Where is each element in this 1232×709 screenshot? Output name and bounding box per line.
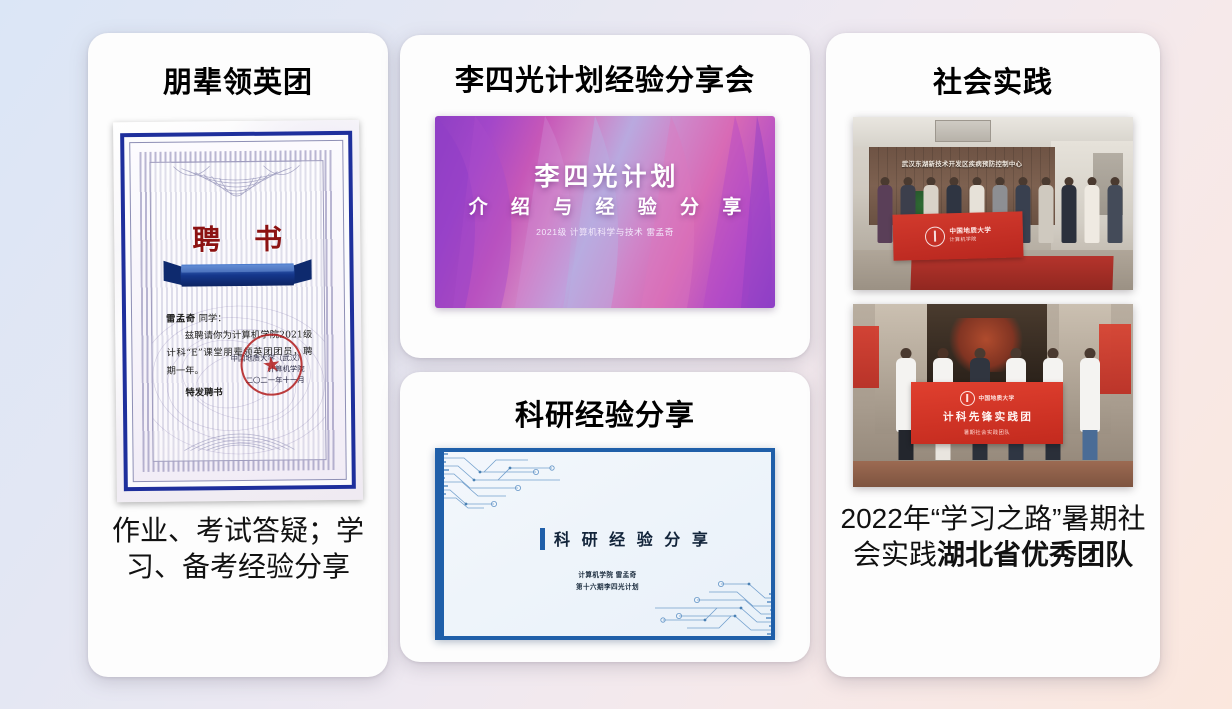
card-social-practice: 社会实践 武汉东湖新技术开发区疾病预防控制中心 <box>826 33 1160 677</box>
certificate-image: 聘 书 <box>113 120 363 503</box>
certificate-bottom-ornament <box>164 409 314 455</box>
photo-team-banner-sub: 暑期社会实践团队 <box>964 429 1010 436</box>
certificate-salutation: 雷孟奇 同学： <box>166 309 312 328</box>
card-social-caption-normal-1: 2022年“学习之路” <box>841 503 1062 534</box>
circuit-decoration-top-left <box>444 452 590 522</box>
seal-star-icon: ★ <box>261 353 282 376</box>
card-research-sharing: 科研经验分享 <box>400 372 810 662</box>
research-slide-sub2: 第十六期李四光计划 <box>444 582 771 594</box>
photo-cdc-group: 武汉东湖新技术开发区疾病预防控制中心 中国地质大学 <box>853 117 1133 290</box>
card-social-caption: 2022年“学习之路”暑期社会实践湖北省优秀团队 <box>840 501 1146 573</box>
photo-cdc-red-banner: 中国地质大学 计算机学院 <box>892 211 1023 260</box>
lisiguang-slide-line3: 2021级 计算机科学与技术 雷孟奇 <box>435 226 775 238</box>
photo-team-banner-main: 计科先锋实践团 <box>941 409 1034 424</box>
lisiguang-slide-image: 李四光计划 介 绍 与 经 验 分 享 2021级 计算机科学与技术 雷孟奇 <box>435 116 775 308</box>
photo-team-group: 中国地质大学 计科先锋实践团 暑期社会实践团队 <box>853 304 1133 487</box>
photo-team-red-banner: 中国地质大学 计科先锋实践团 暑期社会实践团队 <box>911 382 1063 444</box>
lisiguang-slide-line1: 李四光计划 <box>435 157 775 193</box>
card-social-title: 社会实践 <box>933 59 1053 101</box>
card-peer-leaders: 朋辈领英团 <box>88 33 388 677</box>
certificate-salutation-suffix: 同学： <box>196 313 227 324</box>
card-lisiguang-title: 李四光计划经验分享会 <box>455 57 755 99</box>
research-slide-sub1: 计算机学院 雷孟奇 <box>444 570 771 582</box>
certificate-mid-border: 聘 书 <box>129 140 347 482</box>
slide-board: 朋辈领英团 <box>0 0 1232 709</box>
research-slide-subtitle: 计算机学院 雷孟奇 第十六期李四光计划 <box>444 570 771 593</box>
photo-team-banner-university: 中国地质大学 <box>979 394 1015 402</box>
university-logo-icon <box>960 391 975 406</box>
card-lisiguang-plan: 李四光计划经验分享会 李四光计划 介 绍 与 经 验 分 享 2021级 计算机… <box>400 35 810 358</box>
research-slide-inner: 科 研 经 验 分 享 计算机学院 雷孟奇 第十六期李四光计划 <box>444 452 771 636</box>
certificate-ribbon <box>157 253 317 295</box>
photo-team-floor <box>853 461 1133 487</box>
research-slide-image: 科 研 经 验 分 享 计算机学院 雷孟奇 第十六期李四光计划 <box>435 448 775 640</box>
card-social-caption-bold: 湖北省优秀团队 <box>937 539 1133 570</box>
photo-cdc-banner-text: 中国地质大学 计算机学院 <box>949 226 991 244</box>
certificate-recipient-name: 雷孟奇 <box>166 313 196 324</box>
research-title-accent-bar <box>540 528 545 550</box>
certificate-inner-panel: 聘 书 <box>149 160 326 462</box>
certificate-fan-ornament <box>161 160 312 219</box>
photo-cdc-wall-text: 武汉东湖新技术开发区疾病预防控制中心 <box>871 159 1053 168</box>
card-peer-title: 朋辈领英团 <box>163 59 313 101</box>
card-research-title: 科研经验分享 <box>515 392 695 434</box>
photo-cdc-vent <box>935 120 991 142</box>
photo-cdc-banner-college: 计算机学院 <box>950 236 992 245</box>
photo-team-banner-header: 中国地质大学 <box>960 391 1015 406</box>
photo-cdc-red-carpet <box>910 256 1113 290</box>
photo-team-left-poster <box>853 326 879 388</box>
certificate-outer-border: 聘 书 <box>120 131 356 491</box>
lisiguang-slide-line2: 介 绍 与 经 验 分 享 <box>435 192 775 219</box>
university-logo-icon <box>924 226 945 247</box>
research-slide-title: 科 研 经 验 分 享 <box>554 526 711 550</box>
card-peer-caption: 作业、考试答疑；学习、备考经验分享 <box>100 513 376 585</box>
